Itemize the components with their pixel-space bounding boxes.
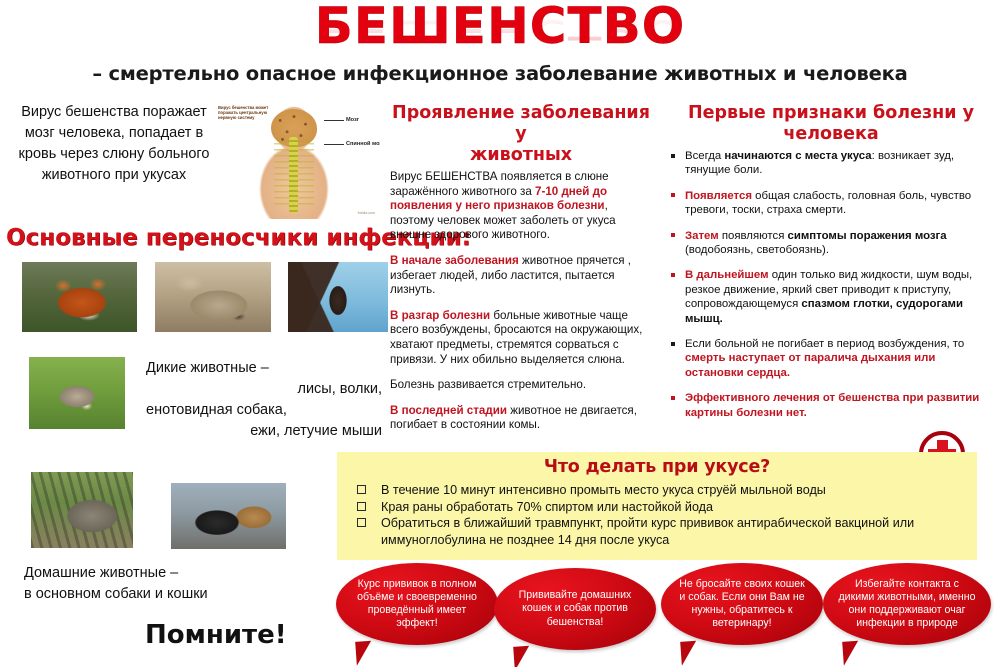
bullet-marker-icon (671, 273, 675, 277)
human-heading-line2: человека (783, 124, 878, 144)
domestic-caption-line1: Домашние животные – (24, 563, 324, 584)
bullet-marker-icon (671, 233, 675, 237)
rabies-poster: БЕШЕНСТВО БЕШЕНСТВО – смертельно опасное… (0, 0, 1000, 667)
anatomy-label-brain: Мозг (346, 117, 359, 123)
page-subtitle: – смертельно опасное инфекционное заболе… (0, 62, 1000, 85)
advice-bubble-3: Не бросайте своих кошек и собак. Если он… (661, 563, 823, 645)
human-symptom-text-part: Затем (685, 230, 719, 242)
bite-action-item: В течение 10 минут интенсивно промыть ме… (355, 482, 977, 499)
human-column-heading: Первые признаки болезни у человека (668, 103, 994, 145)
advice-bubble-1: Курс прививок в полном объёме и своеврем… (336, 563, 498, 645)
human-symptom-text-part: Всегда (685, 150, 724, 162)
bat-photo (288, 262, 388, 332)
bite-box-heading: Что делать при укусе? (337, 452, 977, 477)
bite-action-text: Края раны обработать 70% спиртом или нас… (381, 500, 713, 514)
human-symptom-item: Если больной не погибает в период возбуж… (668, 337, 994, 380)
dogs-photo (171, 483, 286, 549)
wild-caption-line3: енотовидная собака, (146, 400, 382, 421)
bite-actions-list: В течение 10 минут интенсивно промыть ме… (355, 482, 977, 548)
human-heading-line1: Первые признаки болезни у (688, 103, 974, 123)
bubble-tail (842, 640, 867, 666)
anatomy-label-spinal-cord: Спинной мозг (346, 141, 380, 147)
human-symptom-text-part: начинаются с места укуса (724, 150, 871, 162)
checkbox-icon (357, 485, 366, 494)
human-symptom-text-part: (водобоязнь, светобоязнь). (685, 244, 829, 256)
animals-paragraph-2: В начале заболевания животное прячется ,… (390, 254, 652, 298)
title-reflection: БЕШЕНСТВО (0, 15, 1000, 44)
domestic-caption-line2: в основном собаки и кошки (24, 584, 324, 605)
human-symptom-text-part: Появляется (685, 190, 752, 202)
advice-bubble-4-text: Избегайте контакта с дикими животными, и… (837, 578, 977, 631)
human-symptoms-list: Всегда начинаются с места укуса: возника… (668, 149, 994, 420)
intro-text: Вирус бешенства поражает мозг человека, … (18, 102, 210, 186)
checkbox-icon (357, 518, 366, 527)
bite-actions-box: Что делать при укусе? В течение 10 минут… (337, 452, 977, 560)
animals-paragraph-3: В разгар болезни больные животные чаще в… (390, 309, 652, 367)
human-symptom-text-part: появляются (719, 230, 788, 242)
wild-caption-line4: ежи, летучие мыши (146, 421, 382, 442)
p3-part-a: В разгар болезни (390, 309, 490, 322)
human-symptom-text-part: Эффективного лечения от бешенства при ра… (685, 392, 979, 418)
animals-symptoms-column: Проявление заболевания у животных Вирус … (390, 103, 652, 444)
human-symptom-text-part: смерть наступает от паралича дыхания или… (685, 352, 935, 378)
advice-bubble-3-text: Не бросайте своих кошек и собак. Если он… (675, 578, 809, 631)
human-symptom-item: Всегда начинаются с места укуса: возника… (668, 149, 994, 178)
wild-caption-line2: лисы, волки, (146, 379, 382, 400)
p2-part-a: В начале заболевания (390, 254, 519, 267)
human-symptom-item: Появляется общая слабость, головная боль… (668, 189, 994, 218)
bite-action-item: Края раны обработать 70% спиртом или нас… (355, 499, 977, 516)
advice-bubble-2-text: Прививайте домашних кошек и собак против… (508, 589, 642, 629)
human-symptom-text-part: Если больной не погибает в период возбуж… (685, 338, 964, 350)
human-symptom-item: В дальнейшем один только вид жидкости, ш… (668, 268, 994, 326)
animals-heading-line1: Проявление заболевания у (392, 103, 650, 144)
human-symptom-text-part: В дальнейшем (685, 269, 769, 281)
animals-paragraph-4: Болезнь развивается стремительно. (390, 378, 652, 393)
remember-text: Помните! (145, 620, 287, 650)
checkbox-icon (357, 502, 366, 511)
animals-paragraph-1: Вирус БЕШЕНСТВА появляется в слюне зараж… (390, 170, 652, 243)
bite-action-text: Обратиться в ближайший травмпункт, пройт… (381, 516, 914, 547)
animals-column-heading: Проявление заболевания у животных (390, 103, 652, 166)
p5-part-a: В последней стадии (390, 404, 507, 417)
spinal-cord-shape (289, 137, 298, 213)
animals-heading-line2: животных (470, 145, 572, 165)
human-symptoms-column: Первые признаки болезни у человека Всегд… (668, 103, 994, 431)
anatomy-caption: Вирус бешенства может поражать центральн… (218, 105, 272, 121)
bubble-tail (355, 640, 380, 666)
bullet-marker-icon (671, 154, 675, 158)
wild-caption-line1: Дикие животные – (146, 358, 382, 379)
fox-photo (22, 262, 137, 332)
bullet-marker-icon (671, 396, 675, 400)
wolf-photo (155, 262, 271, 332)
human-symptom-item: Затем появляются симптомы поражения мозг… (668, 229, 994, 258)
advice-bubble-2: Прививайте домашних кошек и собак против… (494, 568, 656, 650)
cat-photo (31, 472, 133, 548)
bite-action-item: Обратиться в ближайший травмпункт, пройт… (355, 515, 977, 548)
anatomy-illustration: Вирус бешенства может поражать центральн… (214, 97, 380, 219)
title-block: БЕШЕНСТВО БЕШЕНСТВО (0, 0, 1000, 62)
bite-action-text: В течение 10 минут интенсивно промыть ме… (381, 483, 826, 497)
bullet-marker-icon (671, 342, 675, 346)
advice-bubble-4: Избегайте контакта с дикими животными, и… (823, 563, 991, 645)
human-symptom-item: Эффективного лечения от бешенства при ра… (668, 391, 994, 420)
anatomy-source: fotolia.com (358, 211, 375, 215)
bubble-tail (513, 645, 538, 667)
bullet-marker-icon (671, 193, 675, 197)
advice-bubble-1-text: Курс прививок в полном объёме и своеврем… (350, 578, 484, 631)
hedgehog-photo (29, 357, 125, 429)
human-symptom-text-part: симптомы поражения мозга (788, 230, 947, 242)
animals-paragraph-5: В последней стадии животное не двигается… (390, 404, 652, 433)
bubble-tail (680, 640, 705, 666)
